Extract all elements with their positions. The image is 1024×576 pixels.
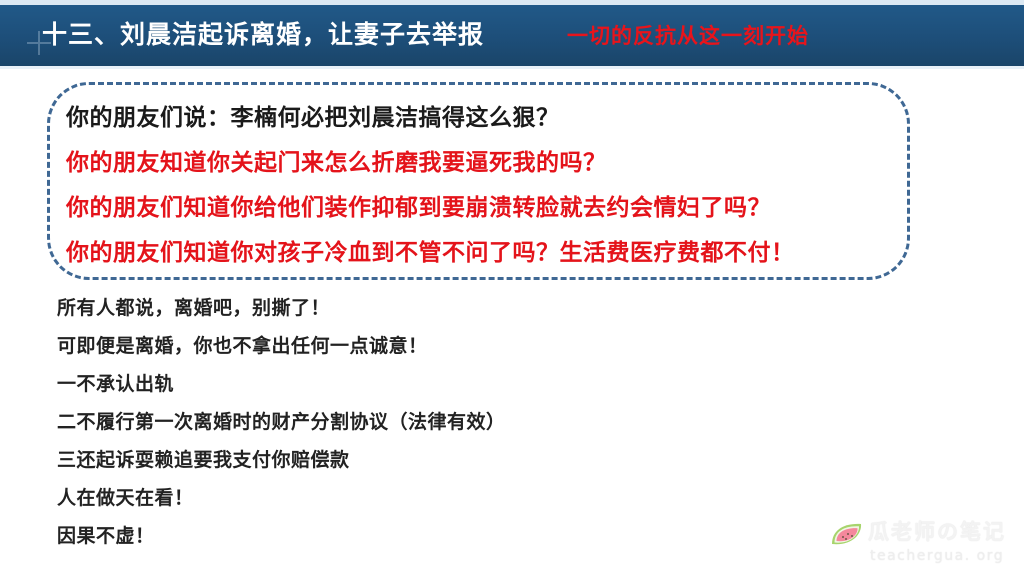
watermark-url: teachergua. org: [870, 547, 1004, 565]
callout-text-group: 你的朋友们说：李楠何必把刘晨洁搞得这么狠？ 你的朋友知道你关起门来怎么折磨我要逼…: [66, 96, 896, 276]
body-line-7: 因果不虚！: [57, 517, 957, 555]
callout-line-3: 你的朋友们知道你给他们装作抑郁到要崩溃转脸就去约会情妇了吗？: [66, 186, 896, 231]
body-line-1: 所有人都说，离婚吧，别撕了！: [57, 289, 957, 327]
body-line-3: 一不承认出轨: [57, 365, 957, 403]
page-subtitle: 一切的反抗从这一刻开始: [567, 21, 809, 51]
slide-canvas: 十三、刘晨洁起诉离婚，让妻子去举报 一切的反抗从这一刻开始 你的朋友们说：李楠何…: [0, 0, 1024, 576]
body-text-group: 所有人都说，离婚吧，别撕了！ 可即便是离婚，你也不拿出任何一点诚意！ 一不承认出…: [57, 289, 957, 555]
callout-line-2: 你的朋友知道你关起门来怎么折磨我要逼死我的吗？: [66, 141, 896, 186]
body-line-6: 人在做天在看！: [57, 479, 957, 517]
body-line-4: 二不履行第一次离婚时的财产分割协议（法律有效）: [57, 403, 957, 441]
page-title: 十三、刘晨洁起诉离婚，让妻子去举报: [42, 19, 484, 51]
callout-line-1: 你的朋友们说：李楠何必把刘晨洁搞得这么狠？: [66, 96, 896, 141]
header-underline: [0, 66, 1024, 69]
watermelon-slice-icon: [830, 522, 864, 547]
callout-line-4: 你的朋友们知道你对孩子冷血到不管不问了吗？生活费医疗费都不付！: [66, 231, 896, 276]
watermark-brand: 瓜老师の笔记: [868, 519, 1006, 545]
watermark: 瓜老师の笔记 teachergua. org: [828, 519, 1010, 571]
body-line-2: 可即便是离婚，你也不拿出任何一点诚意！: [57, 327, 957, 365]
body-line-5: 三还起诉耍赖追要我支付你赔偿款: [57, 441, 957, 479]
